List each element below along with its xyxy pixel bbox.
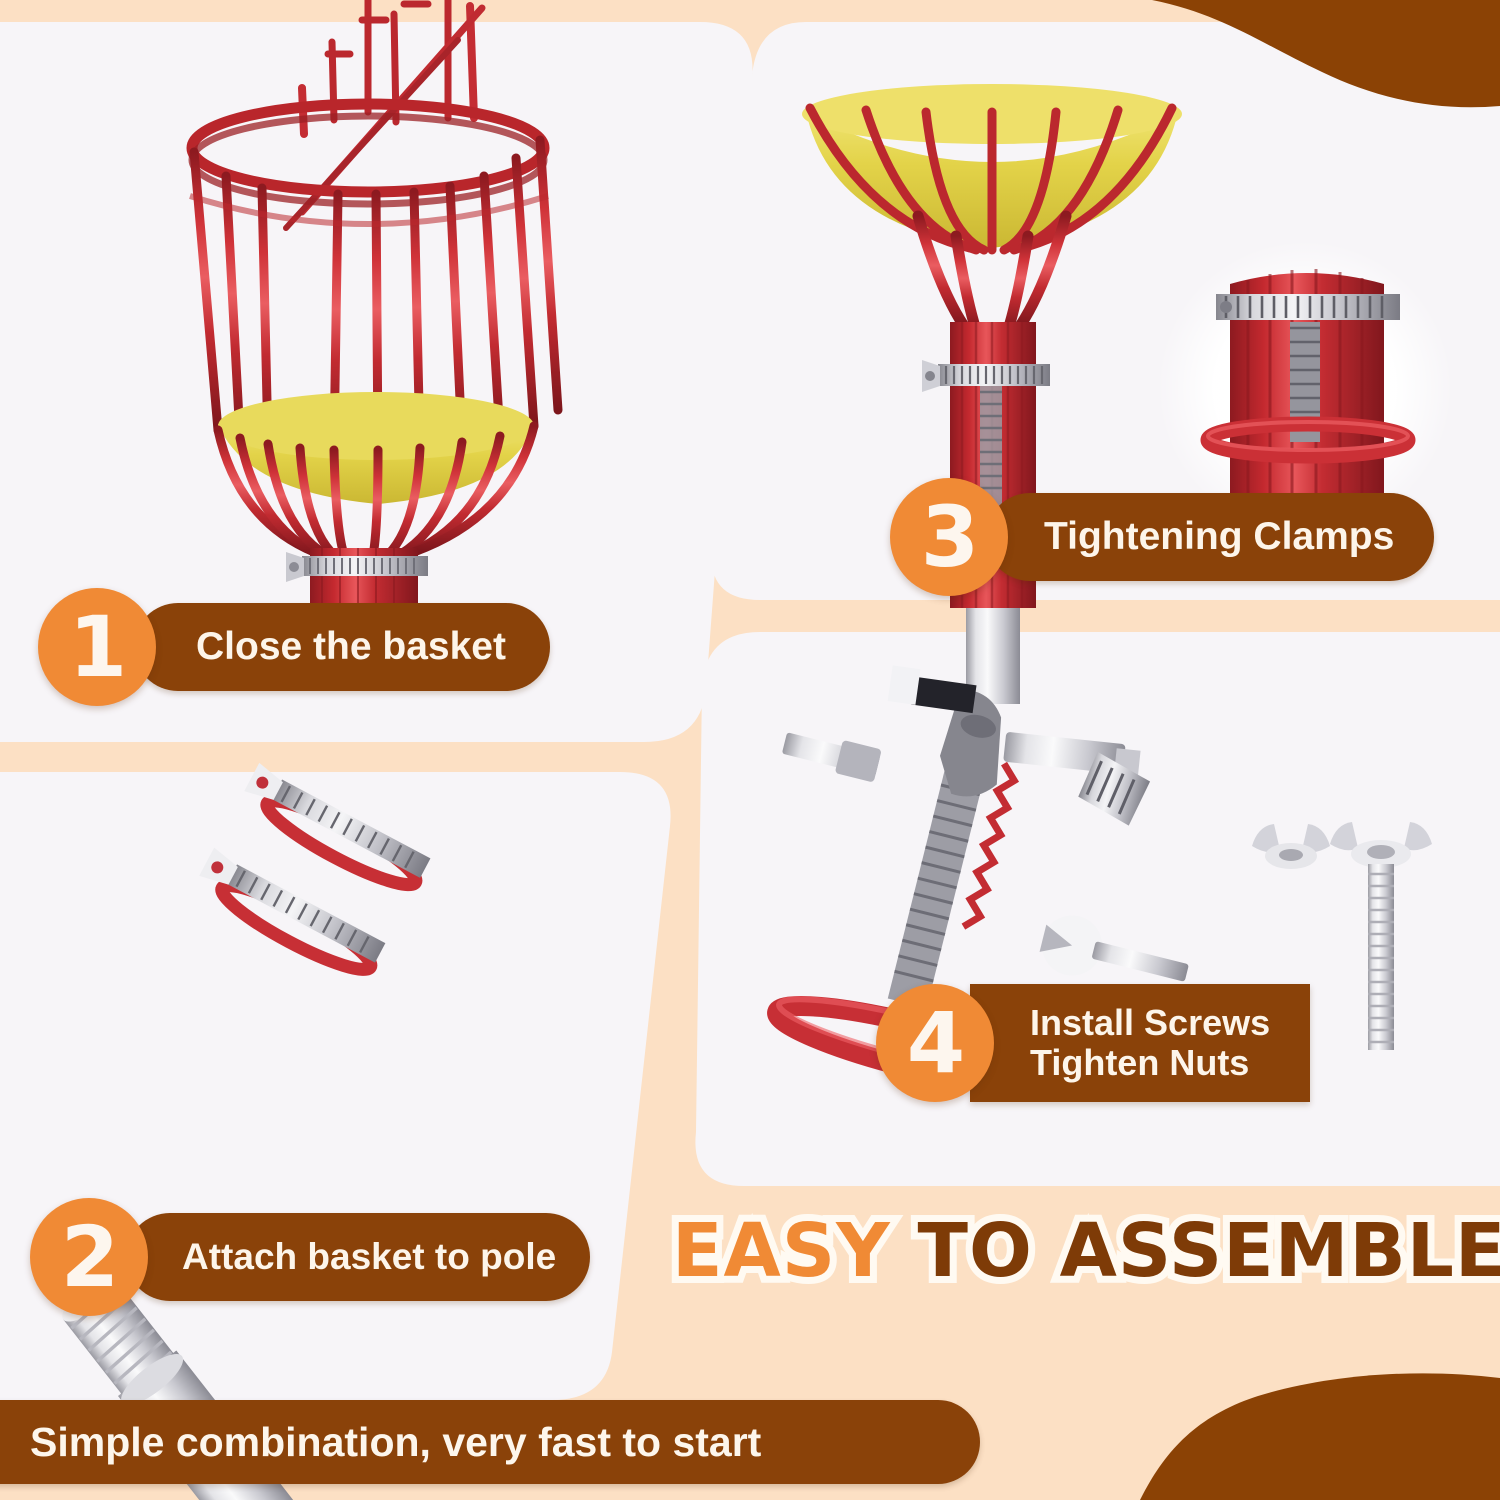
step-4-pill: Install Screws Tighten Nuts xyxy=(970,984,1310,1102)
wing-nut-icon xyxy=(1252,824,1330,869)
step-1-number: 1 xyxy=(38,588,156,706)
threaded-bolt-icon xyxy=(780,726,881,782)
bottom-banner-text: Simple combination, very fast to start xyxy=(0,1419,761,1466)
step-3[interactable]: 3 Tightening Clamps xyxy=(890,478,1434,596)
headline-word-to-assemble: TO ASSEMBLE xyxy=(917,1208,1500,1294)
step-3-pill: Tightening Clamps xyxy=(986,493,1434,581)
infographic-canvas: 1 Close the basket 2 Attach basket to po… xyxy=(0,0,1500,1500)
step-3-label: Tightening Clamps xyxy=(1044,515,1394,559)
step-4[interactable]: 4 Install Screws Tighten Nuts xyxy=(876,984,1310,1102)
step-4-label-line-1: Install Screws xyxy=(1030,1003,1270,1043)
step-1[interactable]: 1 Close the basket xyxy=(38,588,550,706)
step-1-label: Close the basket xyxy=(196,625,506,669)
step-4-number: 4 xyxy=(876,984,994,1102)
step-1-pill: Close the basket xyxy=(134,603,550,691)
page-title: EASY TO ASSEMBLE xyxy=(672,1208,1500,1294)
step-2-label: Attach basket to pole xyxy=(182,1236,556,1278)
step-4-label-line-2: Tighten Nuts xyxy=(1030,1043,1249,1083)
headline-word-easy: EASY xyxy=(672,1208,891,1294)
threaded-bolt-icon xyxy=(1330,822,1432,1050)
step-2-number: 2 xyxy=(30,1198,148,1316)
step-3-number: 3 xyxy=(890,478,1008,596)
step-2[interactable]: 2 Attach basket to pole xyxy=(30,1198,590,1316)
bottom-banner: Simple combination, very fast to start xyxy=(0,1400,980,1484)
step-2-pill: Attach basket to pole xyxy=(126,1213,590,1301)
